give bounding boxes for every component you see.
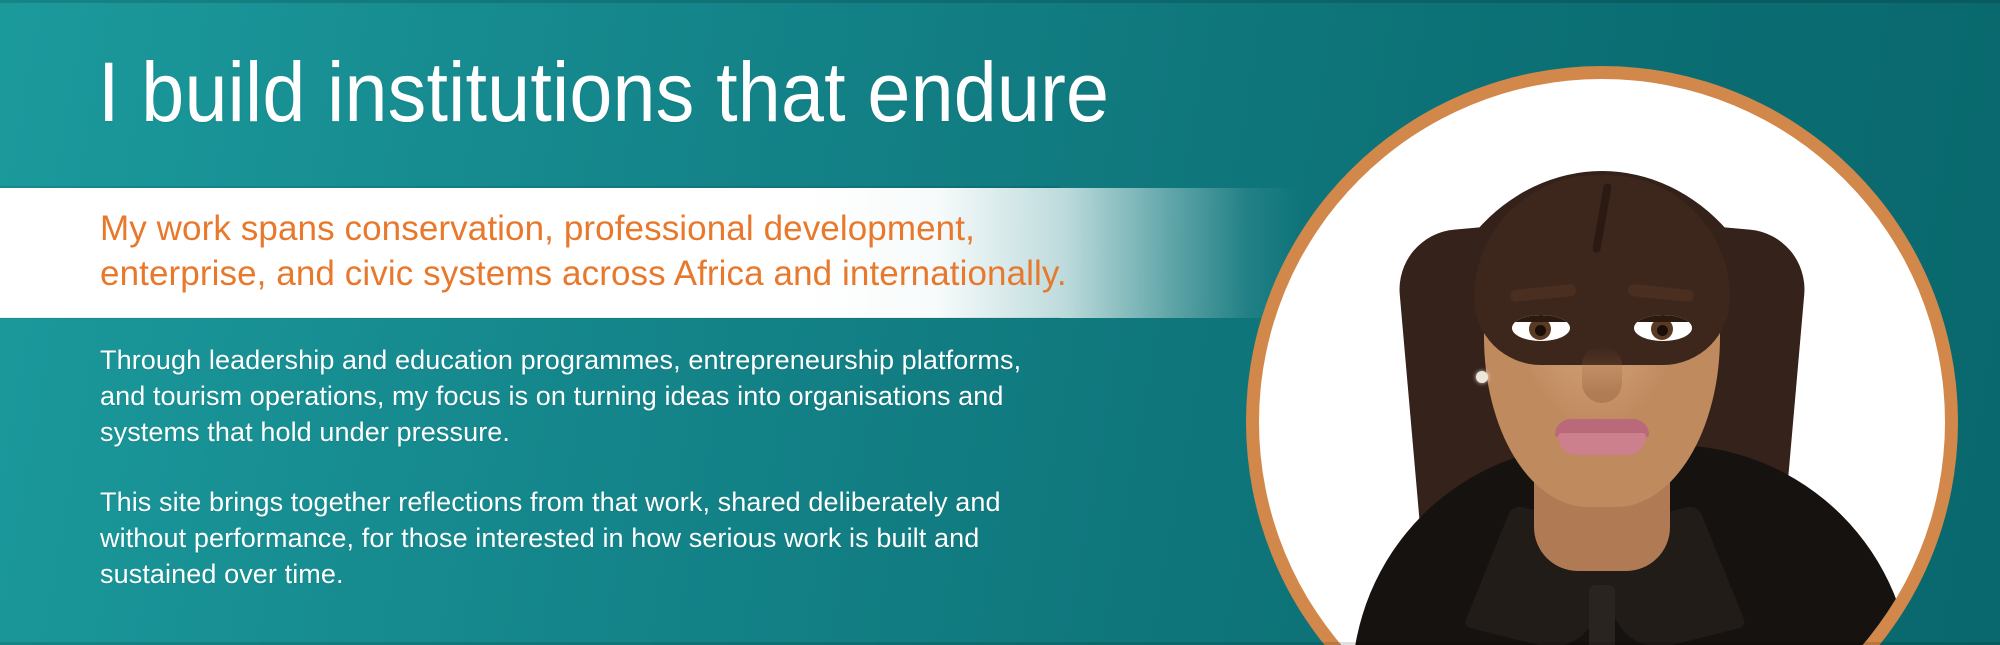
- body-paragraph-2-line-1: This site brings together reflections fr…: [100, 484, 1000, 520]
- banner-top-edge: [0, 0, 2000, 3]
- hero-banner: I build institutions that endure My work…: [0, 0, 2000, 645]
- page-title: I build institutions that endure: [98, 44, 1109, 140]
- body-paragraph-1-line-3: systems that hold under pressure.: [100, 414, 1000, 450]
- portrait-earring: [1476, 371, 1488, 383]
- portrait-lash-right: [1634, 315, 1692, 322]
- portrait-lash-left: [1512, 315, 1570, 322]
- body-copy: Through leadership and education program…: [100, 342, 1000, 592]
- body-paragraph-1-line-2: and tourism operations, my focus is on t…: [100, 378, 1000, 414]
- portrait-lower-lip: [1558, 433, 1646, 455]
- body-paragraph-2-line-2: without performance, for those intereste…: [100, 520, 1000, 556]
- portrait-eye-right: [1634, 315, 1692, 341]
- portrait-medallion: [1246, 66, 1958, 645]
- portrait-pupil-right: [1657, 325, 1668, 336]
- body-paragraph-1-line-1: Through leadership and education program…: [100, 342, 1000, 378]
- portrait-pupil-left: [1535, 325, 1546, 336]
- body-paragraph-2: This site brings together reflections fr…: [100, 484, 1000, 592]
- portrait-nose: [1582, 347, 1622, 403]
- subtitle-line-2: enterprise, and civic systems across Afr…: [100, 251, 1280, 296]
- portrait-shirt-placket: [1589, 585, 1615, 645]
- subtitle-line-1: My work spans conservation, professional…: [100, 206, 1280, 251]
- body-paragraph-1: Through leadership and education program…: [100, 342, 1000, 450]
- portrait-eye-left: [1512, 315, 1570, 341]
- subtitle: My work spans conservation, professional…: [100, 206, 1280, 296]
- highlight-band-bottom-divider: [0, 317, 1060, 319]
- body-paragraph-2-line-3: sustained over time.: [100, 556, 1000, 592]
